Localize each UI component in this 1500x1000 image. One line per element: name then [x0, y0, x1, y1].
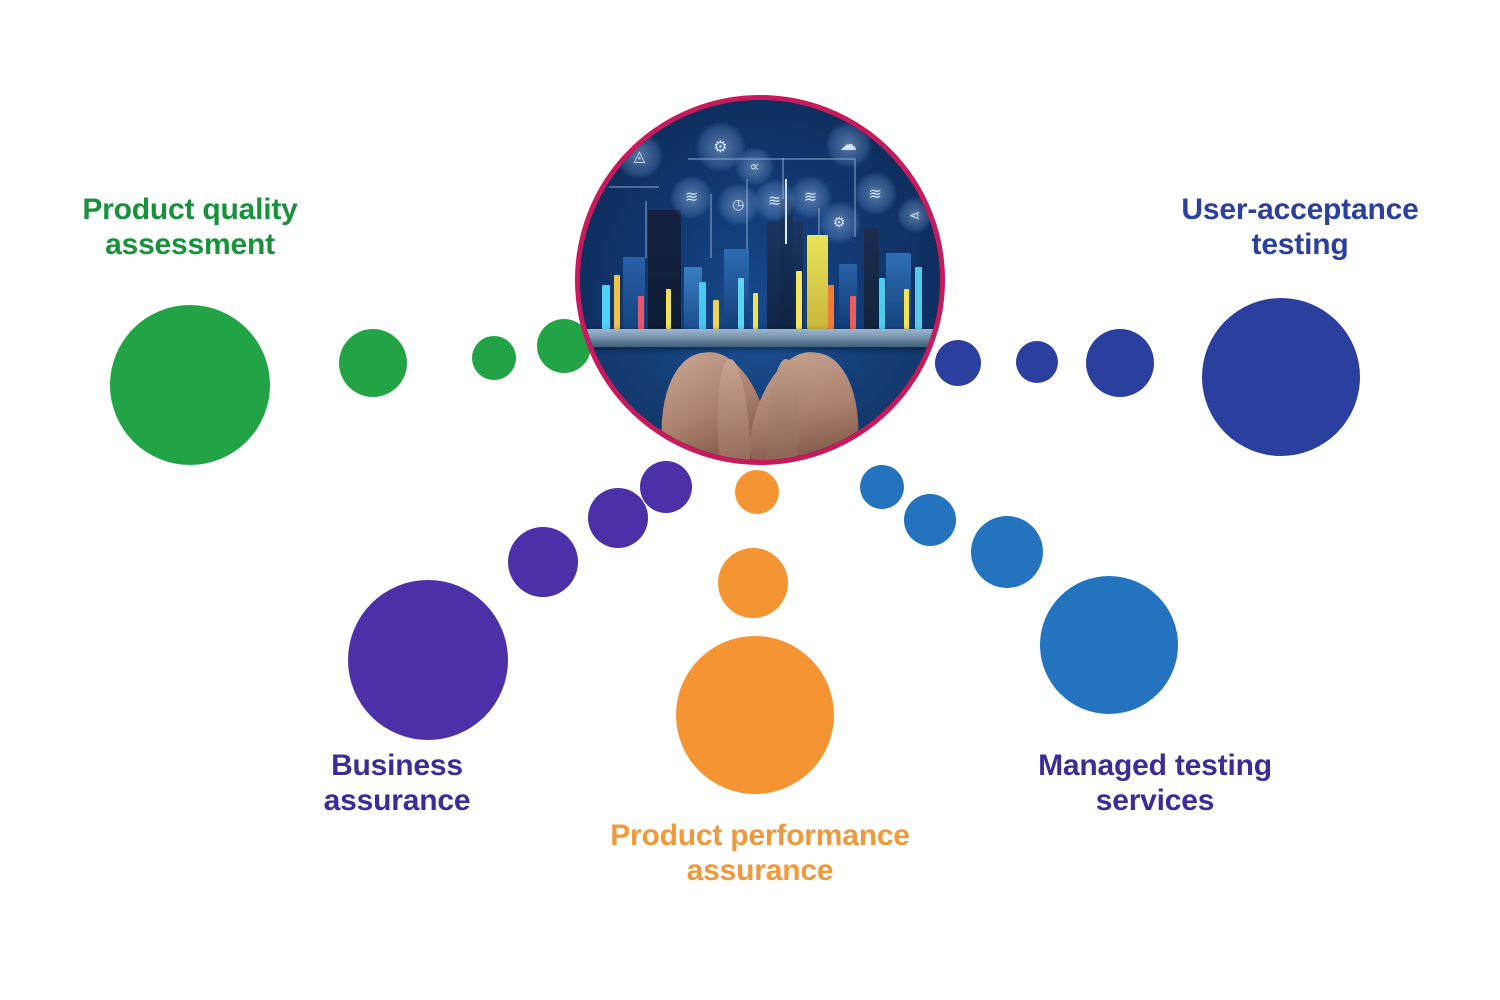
building-light — [904, 289, 909, 329]
branch-label-business-assurance: Business assurance — [282, 748, 512, 819]
hub-image-circle[interactable]: ◬ ⚙ ☁ ∝ ≋ ◷ ≋ ≋ ≋ ⚙ ⋖ — [575, 95, 945, 465]
gear-icon: ⚙ — [818, 201, 861, 244]
branch-label-user-acceptance-testing: User-acceptance testing — [1140, 192, 1460, 263]
branch-node-business-assurance[interactable] — [508, 527, 578, 597]
branch-node-primary-user-acceptance-testing[interactable] — [935, 340, 981, 386]
building-light — [738, 278, 744, 328]
building-light — [796, 271, 802, 329]
building-light — [614, 275, 620, 329]
building-light — [828, 285, 833, 328]
wifi-icon: ≋ — [670, 176, 713, 219]
building — [807, 235, 829, 329]
share-icon: ⋖ — [897, 197, 933, 233]
branch-label-product-performance-assurance: Product performance assurance — [560, 818, 960, 889]
branch-node-user-acceptance-testing[interactable] — [1202, 298, 1360, 456]
building-light — [879, 278, 885, 328]
building-light — [850, 296, 856, 328]
building-light — [602, 285, 610, 328]
cloud-icon: ☁ — [825, 122, 872, 169]
building-light — [666, 289, 671, 329]
building-light — [699, 282, 706, 329]
building-light — [915, 267, 922, 328]
ai-icon: ◬ — [616, 132, 663, 179]
smart-city-in-hands-photo: ◬ ⚙ ☁ ∝ ≋ ◷ ≋ ≋ ≋ ⚙ ⋖ — [580, 100, 940, 460]
branch-node-business-assurance[interactable] — [640, 461, 692, 513]
branch-node-primary-product-quality-assessment[interactable] — [110, 305, 270, 465]
network-line — [645, 201, 647, 259]
branch-node-product-performance-assurance[interactable] — [718, 548, 788, 618]
branch-node-user-acceptance-testing[interactable] — [1086, 329, 1154, 397]
building — [724, 249, 749, 328]
branch-node-primary-managed-testing-services[interactable] — [1040, 576, 1178, 714]
building — [864, 228, 878, 329]
network-line — [609, 186, 659, 188]
branch-node-product-quality-assessment[interactable] — [472, 336, 516, 380]
branch-node-product-performance-assurance[interactable] — [735, 470, 779, 514]
branch-node-product-quality-assessment[interactable] — [339, 329, 407, 397]
branch-node-business-assurance[interactable] — [588, 488, 648, 548]
building-light — [638, 296, 644, 328]
branch-node-managed-testing-services[interactable] — [860, 465, 904, 509]
branch-node-primary-business-assurance[interactable] — [348, 580, 508, 740]
building — [648, 210, 680, 329]
branch-node-managed-testing-services[interactable] — [971, 516, 1043, 588]
building-light — [753, 293, 758, 329]
tablet-slab — [580, 329, 940, 348]
branch-node-primary-product-performance-assurance[interactable] — [676, 636, 834, 794]
branch-label-managed-testing-services: Managed testing services — [990, 748, 1320, 819]
branch-node-managed-testing-services[interactable] — [904, 494, 956, 546]
building-light — [713, 300, 718, 329]
diagram-canvas: ◬ ⚙ ☁ ∝ ≋ ◷ ≋ ≋ ≋ ⚙ ⋖ Product quality as… — [0, 0, 1500, 1000]
branch-label-product-quality-assessment: Product quality assessment — [40, 192, 340, 263]
branch-node-user-acceptance-testing[interactable] — [1016, 341, 1058, 383]
wifi-icon: ≋ — [854, 172, 897, 215]
